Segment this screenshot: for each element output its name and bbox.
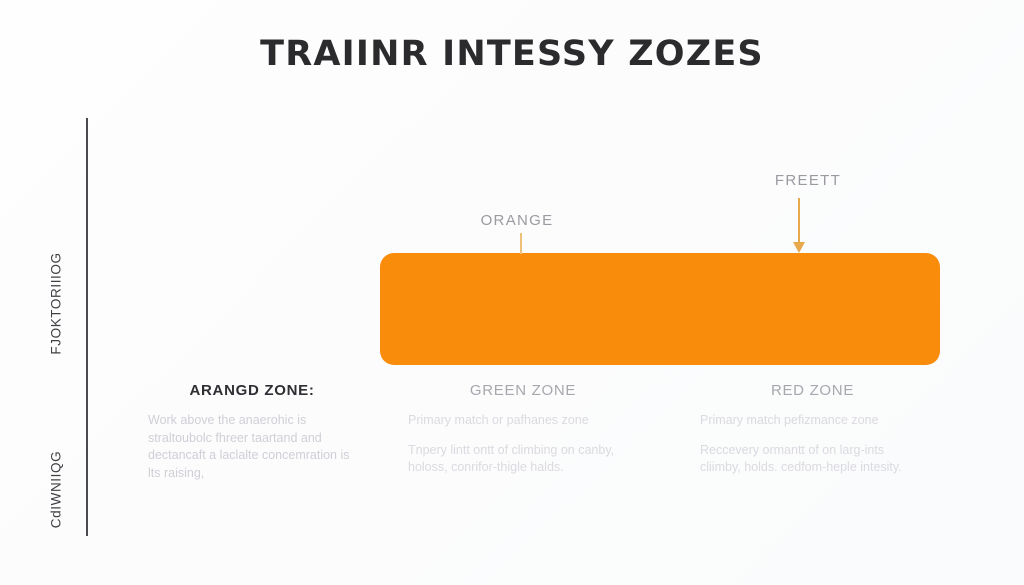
- bar-series-orange[interactable]: [380, 253, 940, 365]
- zone-description-green-primary: Primary match or pafhanes zone: [408, 412, 638, 430]
- zone-description-red-primary: Primary match pefizmance zone: [700, 412, 925, 430]
- y-axis-tick-label-bottom: CdIWNIIQG: [49, 425, 64, 555]
- zone-heading-amber: ARANGD ZONE:: [148, 382, 356, 399]
- callout-orange-label: ORANGE: [481, 212, 554, 229]
- zone-description-amber: Work above the anaerohic is straltoubolc…: [148, 412, 356, 482]
- callout-orange: ORANGE: [437, 212, 597, 230]
- zone-description-green-secondary: Tnpery lintt ontt of climbing on canby, …: [408, 442, 638, 477]
- page-title: TRAIINR INTESSY ZOZES: [0, 34, 1024, 74]
- zone-column-red: RED ZONE Primary match pefizmance zone R…: [700, 382, 925, 477]
- zone-description-red-secondary: Reccevery ormantt of on larg-ints cliimb…: [700, 442, 925, 477]
- chart-canvas: TRAIINR INTESSY ZOZES FJOKTORIIIOG CdIWN…: [0, 0, 1024, 585]
- zone-column-green: GREEN ZONE Primary match or pafhanes zon…: [408, 382, 638, 477]
- callout-freett-arrow-icon: [790, 198, 808, 254]
- y-axis-line: [86, 118, 88, 536]
- zone-heading-green: GREEN ZONE: [408, 382, 638, 399]
- zone-heading-red: RED ZONE: [700, 382, 925, 399]
- zone-column-amber: ARANGD ZONE: Work above the anaerohic is…: [148, 382, 356, 482]
- y-axis-tick-label-top: FJOKTORIIIOG: [49, 239, 64, 369]
- callout-orange-connector-line: [520, 233, 522, 254]
- callout-freett: FREETT: [728, 172, 888, 190]
- callout-freett-label: FREETT: [775, 172, 841, 189]
